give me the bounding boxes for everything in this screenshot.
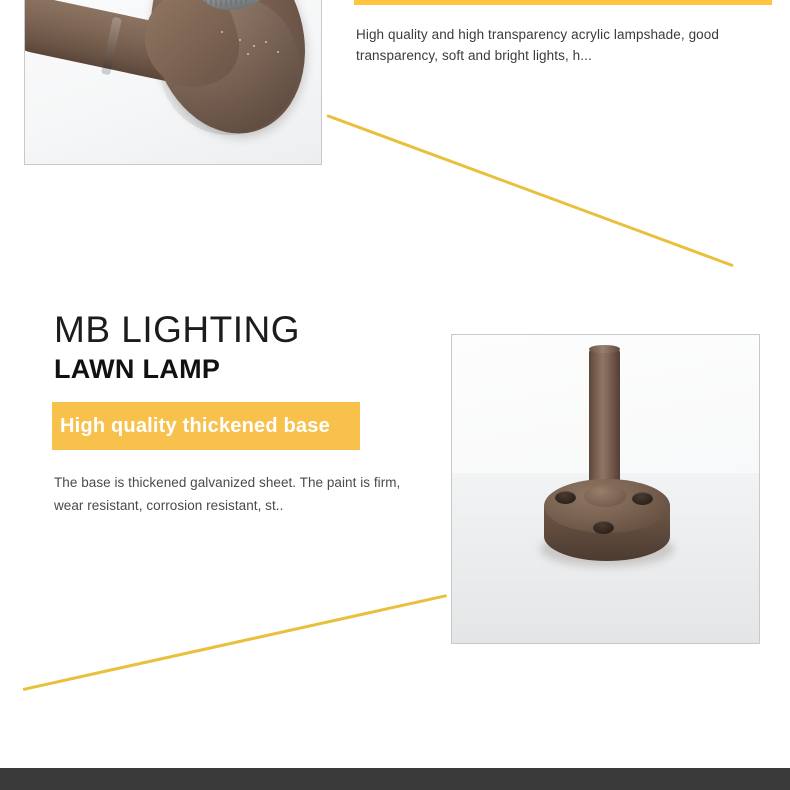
- photo-speck: [253, 45, 255, 47]
- feature-banner: High quality thickened base: [52, 402, 360, 450]
- photo-speck: [265, 41, 267, 43]
- lamp-shade-photo: [25, 0, 321, 164]
- product-detail-page: High quality and high transparency acryl…: [0, 0, 790, 790]
- lamp-base-photo-frame[interactable]: [451, 334, 760, 644]
- lamp-base-photo: [452, 335, 759, 643]
- feature-banner-label: High quality thickened base: [60, 415, 330, 438]
- base-screw-hole: [593, 521, 614, 534]
- diagonal-connector-line-upper: [326, 114, 733, 267]
- base-description-text: The base is thickened galvanized sheet. …: [54, 471, 404, 517]
- photo-speck: [221, 31, 223, 33]
- lampshade-description-text: High quality and high transparency acryl…: [356, 24, 756, 66]
- base-collar-shape: [584, 485, 626, 507]
- base-screw-hole: [632, 492, 653, 505]
- top-yellow-strip: [354, 0, 772, 5]
- photo-speck: [247, 53, 249, 55]
- base-post-top-shape: [589, 345, 620, 353]
- lamp-shade-photo-frame[interactable]: [24, 0, 322, 165]
- photo-speck: [277, 51, 279, 53]
- brand-title: MB LIGHTING: [54, 309, 300, 351]
- base-screw-hole: [555, 491, 576, 504]
- bottom-dark-bar: [0, 768, 790, 790]
- photo-speck: [239, 39, 241, 41]
- diagonal-connector-line-lower: [23, 594, 447, 691]
- product-title: LAWN LAMP: [54, 353, 220, 385]
